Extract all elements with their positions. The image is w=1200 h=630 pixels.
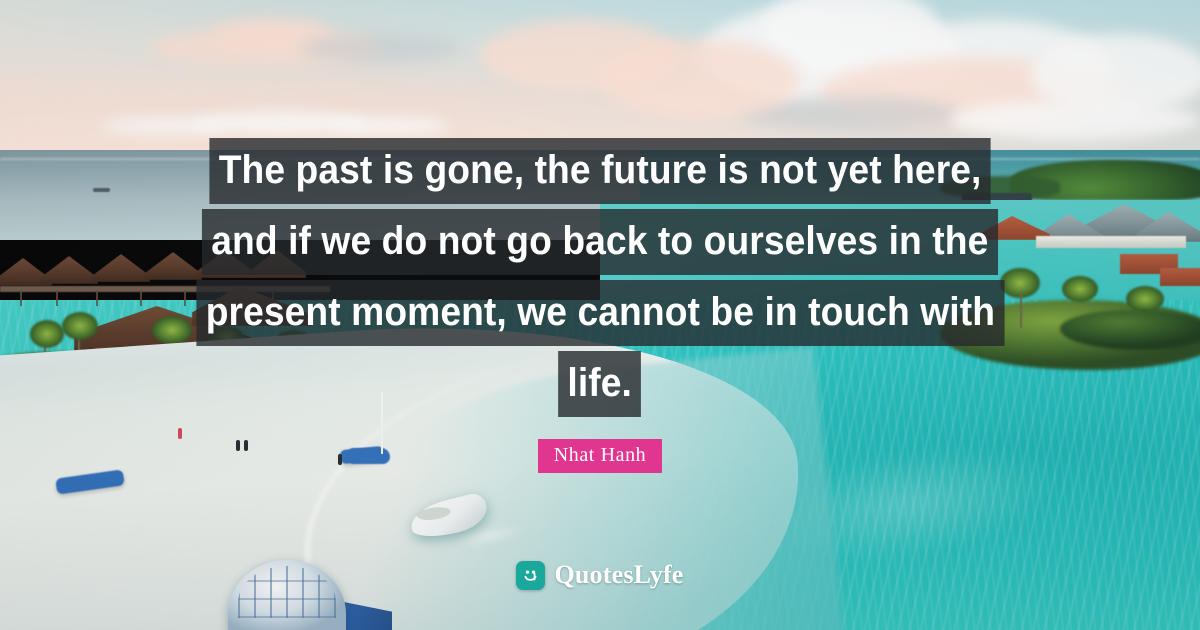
overwater-villa bbox=[92, 254, 150, 282]
resort-walkway bbox=[1036, 236, 1186, 248]
palm-crown bbox=[152, 316, 192, 344]
pier-piling bbox=[140, 290, 142, 306]
palm-crown bbox=[30, 320, 64, 348]
quote-smile-icon bbox=[516, 561, 545, 590]
mast bbox=[381, 392, 383, 454]
beach-person bbox=[244, 440, 248, 451]
quote-image: The past is gone, the future is not yet … bbox=[0, 0, 1200, 630]
brand-logo[interactable]: QuotesLyfe bbox=[0, 560, 1200, 590]
background-photo bbox=[0, 0, 1200, 630]
author-badge[interactable]: Nhat Hanh bbox=[538, 439, 663, 473]
beach-person bbox=[178, 428, 182, 439]
resort-roof bbox=[1160, 268, 1200, 286]
jetty bbox=[0, 286, 330, 292]
pier-piling bbox=[184, 290, 186, 306]
palm-crown bbox=[1062, 276, 1098, 302]
overwater-villa bbox=[248, 250, 306, 278]
overwater-villa bbox=[144, 252, 202, 280]
distant-boat bbox=[93, 188, 110, 192]
cloud bbox=[950, 100, 1200, 140]
cloud bbox=[330, 118, 450, 134]
pier-piling bbox=[20, 290, 22, 306]
horizon bbox=[0, 158, 1200, 160]
overwater-villa bbox=[40, 256, 98, 284]
pier-piling bbox=[96, 290, 98, 306]
beach-person bbox=[236, 440, 240, 451]
beach-person bbox=[338, 454, 342, 465]
palm-crown bbox=[1126, 286, 1164, 312]
catamaran bbox=[348, 448, 390, 464]
overwater-villa bbox=[196, 250, 254, 278]
palm-crown bbox=[62, 312, 98, 340]
cloud bbox=[480, 20, 680, 90]
pier-piling bbox=[56, 290, 58, 306]
cloud bbox=[300, 34, 460, 62]
brand-name: QuotesLyfe bbox=[554, 560, 683, 590]
palm-trunk bbox=[1020, 292, 1022, 328]
